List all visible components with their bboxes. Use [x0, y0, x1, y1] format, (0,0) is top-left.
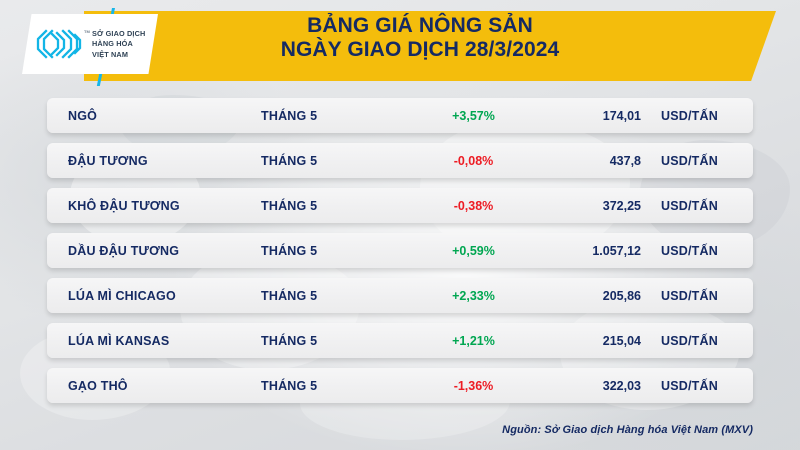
price-value: 174,01: [536, 109, 641, 123]
table-row[interactable]: LÚA MÌ CHICAGOTHÁNG 5+2,33%205,86USD/TẤN: [47, 278, 753, 313]
source-note: Nguồn: Sở Giao dịch Hàng hóa Việt Nam (M…: [502, 424, 753, 436]
change-percent: -0,38%: [411, 199, 536, 213]
price-value: 372,25: [536, 199, 641, 213]
price-unit: USD/TẤN: [641, 289, 741, 303]
price-unit: USD/TẤN: [641, 379, 741, 393]
table-row[interactable]: GẠO THÔTHÁNG 5-1,36%322,03USD/TẤN: [47, 368, 753, 403]
commodity-name: GẠO THÔ: [47, 379, 261, 393]
change-percent: +3,57%: [411, 109, 536, 123]
commodity-name: LÚA MÌ CHICAGO: [47, 289, 261, 303]
logo-text-line3: VIỆT NAM: [92, 50, 145, 60]
page-title-line1: BẢNG GIÁ NÔNG SẢN: [120, 14, 720, 38]
table-row[interactable]: NGÔTHÁNG 5+3,57%174,01USD/TẤN: [47, 98, 753, 133]
price-value: 215,04: [536, 334, 641, 348]
contract-month: THÁNG 5: [261, 379, 411, 393]
commodity-name: ĐẬU TƯƠNG: [47, 154, 261, 168]
change-percent: +1,21%: [411, 334, 536, 348]
page-title: BẢNG GIÁ NÔNG SẢN NGÀY GIAO DỊCH 28/3/20…: [120, 14, 720, 63]
header: BẢNG GIÁ NÔNG SẢN NGÀY GIAO DỊCH 28/3/20…: [0, 0, 800, 92]
contract-month: THÁNG 5: [261, 244, 411, 258]
contract-month: THÁNG 5: [261, 334, 411, 348]
table-row[interactable]: DẦU ĐẬU TƯƠNGTHÁNG 5+0,59%1.057,12USD/TẤ…: [47, 233, 753, 268]
logo-text-line1: SỞ GIAO DỊCH: [92, 29, 145, 39]
price-unit: USD/TẤN: [641, 244, 741, 258]
price-value: 322,03: [536, 379, 641, 393]
contract-month: THÁNG 5: [261, 289, 411, 303]
page-title-line2: NGÀY GIAO DỊCH 28/3/2024: [120, 38, 720, 62]
table-row[interactable]: ĐẬU TƯƠNGTHÁNG 5-0,08%437,8USD/TẤN: [47, 143, 753, 178]
commodity-name: KHÔ ĐẬU TƯƠNG: [47, 199, 261, 213]
trademark-symbol: TM: [84, 29, 90, 34]
price-unit: USD/TẤN: [641, 199, 741, 213]
commodity-name: DẦU ĐẬU TƯƠNG: [47, 244, 261, 258]
price-value: 437,8: [536, 154, 641, 168]
mxv-logo-icon: [36, 28, 82, 60]
price-unit: USD/TẤN: [641, 334, 741, 348]
change-percent: -1,36%: [411, 379, 536, 393]
contract-month: THÁNG 5: [261, 154, 411, 168]
price-board: BẢNG GIÁ NÔNG SẢN NGÀY GIAO DỊCH 28/3/20…: [0, 0, 800, 450]
price-unit: USD/TẤN: [641, 109, 741, 123]
logo-text-line2: HÀNG HÓA: [92, 39, 145, 49]
price-unit: USD/TẤN: [641, 154, 741, 168]
change-percent: +0,59%: [411, 244, 536, 258]
price-value: 1.057,12: [536, 244, 641, 258]
commodity-name: NGÔ: [47, 109, 261, 123]
contract-month: THÁNG 5: [261, 199, 411, 213]
logo-text: SỞ GIAO DỊCH HÀNG HÓA VIỆT NAM: [92, 29, 145, 60]
price-value: 205,86: [536, 289, 641, 303]
table-row[interactable]: KHÔ ĐẬU TƯƠNGTHÁNG 5-0,38%372,25USD/TẤN: [47, 188, 753, 223]
contract-month: THÁNG 5: [261, 109, 411, 123]
commodity-name: LÚA MÌ KANSAS: [47, 334, 261, 348]
table-row[interactable]: LÚA MÌ KANSASTHÁNG 5+1,21%215,04USD/TẤN: [47, 323, 753, 358]
logo: TM SỞ GIAO DỊCH HÀNG HÓA VIỆT NAM: [22, 14, 158, 74]
change-percent: -0,08%: [411, 154, 536, 168]
commodity-price-table: NGÔTHÁNG 5+3,57%174,01USD/TẤNĐẬU TƯƠNGTH…: [0, 98, 800, 413]
change-percent: +2,33%: [411, 289, 536, 303]
